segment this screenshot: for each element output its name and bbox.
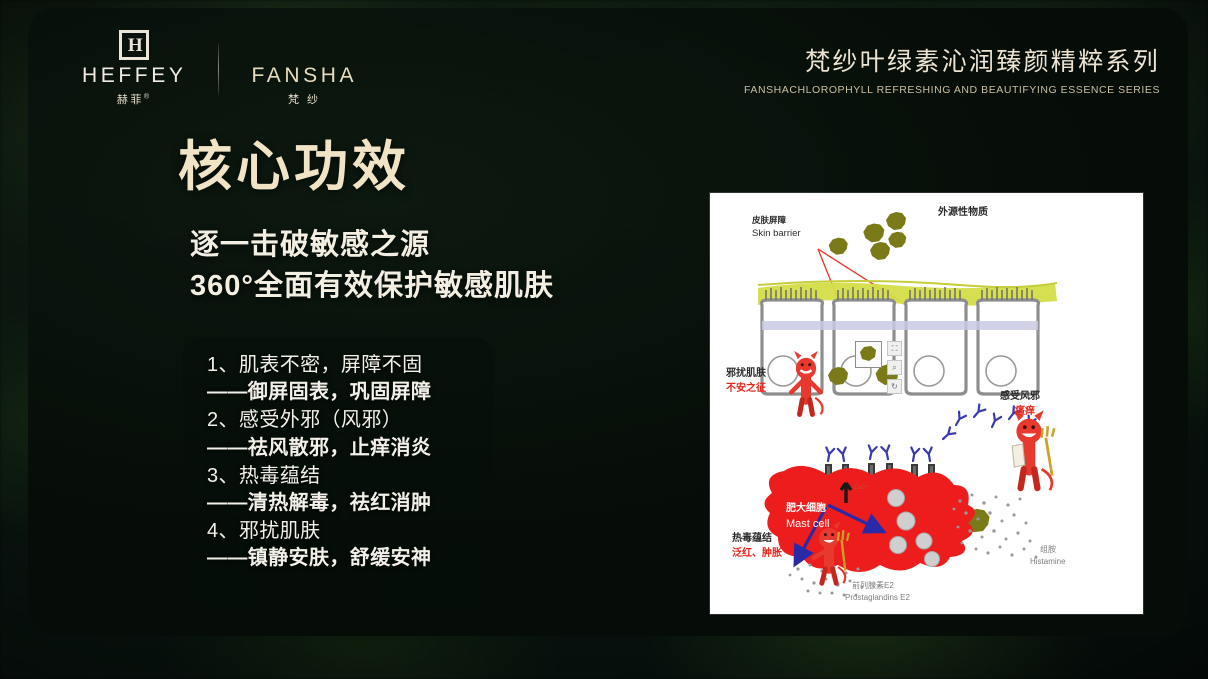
brand-divider (218, 43, 219, 95)
heffey-monogram-icon: H (119, 30, 149, 60)
label-prostaglandin-en: Prostaglandins E2 (845, 593, 910, 603)
series-title-en: FANSHACHLOROPHYLL REFRESHING AND BEAUTIF… (744, 84, 1160, 96)
label-skin-barrier-cn: 皮肤屏障 (752, 215, 786, 226)
image-widget-toolbar[interactable]: ⛶ ⌕ ↻ (887, 341, 902, 394)
refresh-icon[interactable]: ↻ (887, 379, 902, 394)
list-item: 1、肌表不密，屏障不固 (207, 352, 497, 379)
label-histamine-cn: 组胺 (1040, 545, 1056, 555)
ige-antibodies (824, 404, 1036, 461)
zoom-icon[interactable]: ⌕ (887, 360, 902, 375)
list-item: 3、热毒蕴结 (207, 463, 497, 490)
label-calcium-influx: Ca2+ (854, 485, 869, 493)
subtitle-line-2: 360°全面有效保护敏感肌肤 (190, 266, 554, 307)
label-prostaglandin-cn: 前列腺素E2 (852, 581, 894, 591)
label-wind-evil: 感受风邪 (1000, 391, 1040, 404)
heffey-name-en: HEFFEY (82, 65, 186, 87)
series-title-zone: 梵纱叶绿素沁润臻颜精粹系列 FANSHACHLOROPHYLL REFRESHI… (744, 48, 1160, 96)
label-skin-barrier-en: Skin barrier (752, 228, 801, 240)
skin-allergy-diagram-panel: 皮肤屏障 Skin barrier 外源性物质 邪扰肌肤 不安之征 感受风邪 瘙… (710, 193, 1143, 614)
label-heat-toxin: 热毒蕴结 (732, 533, 772, 546)
allergen-thumbnail-icon (856, 342, 880, 366)
label-exogenous-substance: 外源性物质 (938, 207, 988, 220)
series-title-cn: 梵纱叶绿素沁润臻颜精粹系列 (744, 48, 1160, 77)
list-item: 2、感受外邪（风邪） (207, 407, 497, 434)
list-item: 4、邪扰肌肤 (207, 518, 497, 545)
list-item: ——祛风散邪，止痒消炎 (207, 435, 497, 462)
subtitle-line-1: 逐一击破敏感之源 (190, 225, 554, 266)
label-mast-cell-en: Mast cell (786, 518, 829, 532)
fansha-name-cn: 梵 纱 (288, 91, 321, 107)
list-item: ——御屏固表，巩固屏障 (207, 379, 497, 406)
slide-root: H HEFFEY 赫菲® FANSHA 梵 纱 梵纱叶绿素沁润臻颜精粹系列 FA… (0, 0, 1208, 679)
heffey-monogram-glyph: H (128, 36, 141, 55)
list-item: ——镇静安肤，舒缓安神 (207, 545, 497, 572)
label-mast-cell-cn: 肥大细胞 (786, 503, 826, 516)
label-wind-evil-sub: 瘙痒 (1015, 406, 1035, 419)
list-item: ——清热解毒，祛红消肿 (207, 490, 497, 517)
benefits-list: 1、肌表不密，屏障不固 ——御屏固表，巩固屏障 2、感受外邪（风邪） ——祛风散… (207, 352, 497, 574)
brand-fansha: FANSHA 梵 纱 (225, 31, 383, 107)
label-histamine-en: Histamine (1030, 557, 1066, 567)
devil-wind-evil (1012, 410, 1054, 490)
fansha-name-en: FANSHA (251, 65, 357, 87)
label-irritated-skin-sub: 不安之征 (726, 383, 766, 396)
exogenous-particles (829, 212, 906, 260)
heffey-name-cn: 赫菲® (117, 91, 152, 107)
resize-icon[interactable]: ⛶ (887, 341, 902, 356)
selected-image-thumbnail[interactable] (855, 341, 882, 368)
page-title: 核心功效 (178, 138, 410, 197)
intercellular-band (762, 321, 1038, 330)
label-irritated-skin: 邪扰肌肤 (726, 368, 766, 381)
label-heat-toxin-sub: 泛红、肿胀 (732, 548, 782, 561)
brand-heffey: H HEFFEY 赫菲® (56, 30, 212, 107)
page-subtitle: 逐一击破敏感之源 360°全面有效保护敏感肌肤 (190, 225, 554, 307)
brand-logo-zone: H HEFFEY 赫菲® FANSHA 梵 纱 (56, 30, 383, 107)
registered-mark-icon: ® (144, 93, 152, 100)
